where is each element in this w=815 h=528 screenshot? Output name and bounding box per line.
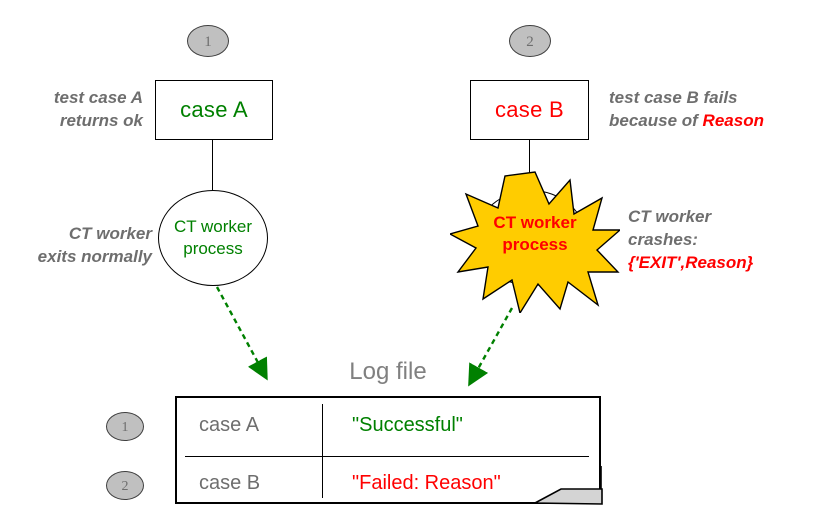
ct-worker-process-ellipse: CT worker process bbox=[158, 190, 268, 286]
note-test-case-b-line1: test case B fails bbox=[609, 86, 815, 109]
note-ct-worker-crashes-exit: {'EXIT',Reason} bbox=[628, 251, 815, 274]
note-test-case-b-line2-prefix: because of bbox=[609, 111, 703, 130]
log-row-step-bubble-1: 1 bbox=[106, 412, 144, 441]
log-row-divider bbox=[185, 456, 589, 457]
ct-worker-process-ellipse-crashed bbox=[476, 190, 586, 286]
note-test-case-a-line2: returns ok bbox=[10, 109, 143, 132]
case-a-box[interactable]: case A bbox=[155, 80, 273, 140]
note-test-case-a-line1: test case A bbox=[10, 86, 143, 109]
ct-worker-ellipse-line2: process bbox=[183, 238, 243, 260]
diagram-canvas: 1 2 test case A returns ok case A CT wor… bbox=[0, 0, 815, 528]
note-ct-worker-exits-line1: CT worker bbox=[0, 222, 152, 245]
note-ct-worker-crashes-line2: crashes: bbox=[628, 228, 815, 251]
arrow-worker-a-to-log bbox=[190, 275, 310, 390]
step-bubble-1: 1 bbox=[187, 25, 229, 57]
log-row-name-1: case A bbox=[199, 414, 259, 437]
note-ct-worker-crashes-line1: CT worker bbox=[628, 205, 815, 228]
log-column-divider bbox=[322, 404, 323, 498]
note-test-case-b-reason: Reason bbox=[703, 111, 764, 130]
ct-worker-ellipse-line1: CT worker bbox=[174, 216, 252, 238]
note-ct-worker-exits: CT worker exits normally bbox=[0, 222, 152, 268]
note-test-case-a: test case A returns ok bbox=[10, 86, 143, 132]
note-test-case-b: test case B fails because of Reason bbox=[609, 86, 815, 132]
case-b-box[interactable]: case B bbox=[470, 80, 589, 140]
note-ct-worker-exits-line2: exits normally bbox=[0, 245, 152, 268]
connector-case-b-to-worker bbox=[529, 140, 530, 195]
note-ct-worker-crashes: CT worker crashes: {'EXIT',Reason} bbox=[628, 205, 815, 274]
page-fold-corner-icon bbox=[532, 466, 606, 508]
log-file-title: Log file bbox=[305, 358, 471, 386]
log-row-value-1: "Successful" bbox=[352, 414, 463, 437]
step-bubble-2: 2 bbox=[509, 25, 551, 57]
log-row-value-2: "Failed: Reason" bbox=[352, 472, 501, 495]
log-row-step-bubble-2: 2 bbox=[106, 471, 144, 500]
connector-case-a-to-worker bbox=[212, 140, 213, 190]
note-test-case-b-line2: because of Reason bbox=[609, 109, 815, 132]
log-row-name-2: case B bbox=[199, 472, 260, 495]
